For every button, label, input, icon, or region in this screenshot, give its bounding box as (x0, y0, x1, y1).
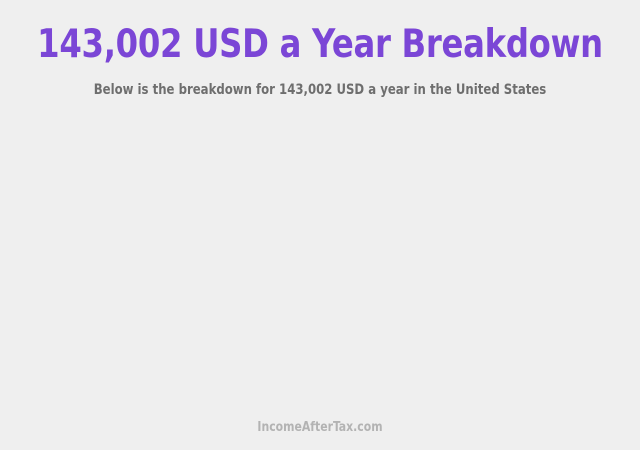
page-header: 143,002 USD a Year Breakdown Below is th… (0, 0, 640, 99)
page-subtitle: Below is the breakdown for 143,002 USD a… (22, 68, 617, 99)
page-title: 143,002 USD a Year Breakdown (26, 22, 615, 68)
chart-area (0, 99, 640, 420)
page-footer: IncomeAfterTax.com (0, 420, 640, 450)
income-breakdown-page: 143,002 USD a Year Breakdown Below is th… (0, 0, 640, 450)
chart-placeholder (0, 99, 640, 420)
site-credit: IncomeAfterTax.com (22, 420, 617, 436)
